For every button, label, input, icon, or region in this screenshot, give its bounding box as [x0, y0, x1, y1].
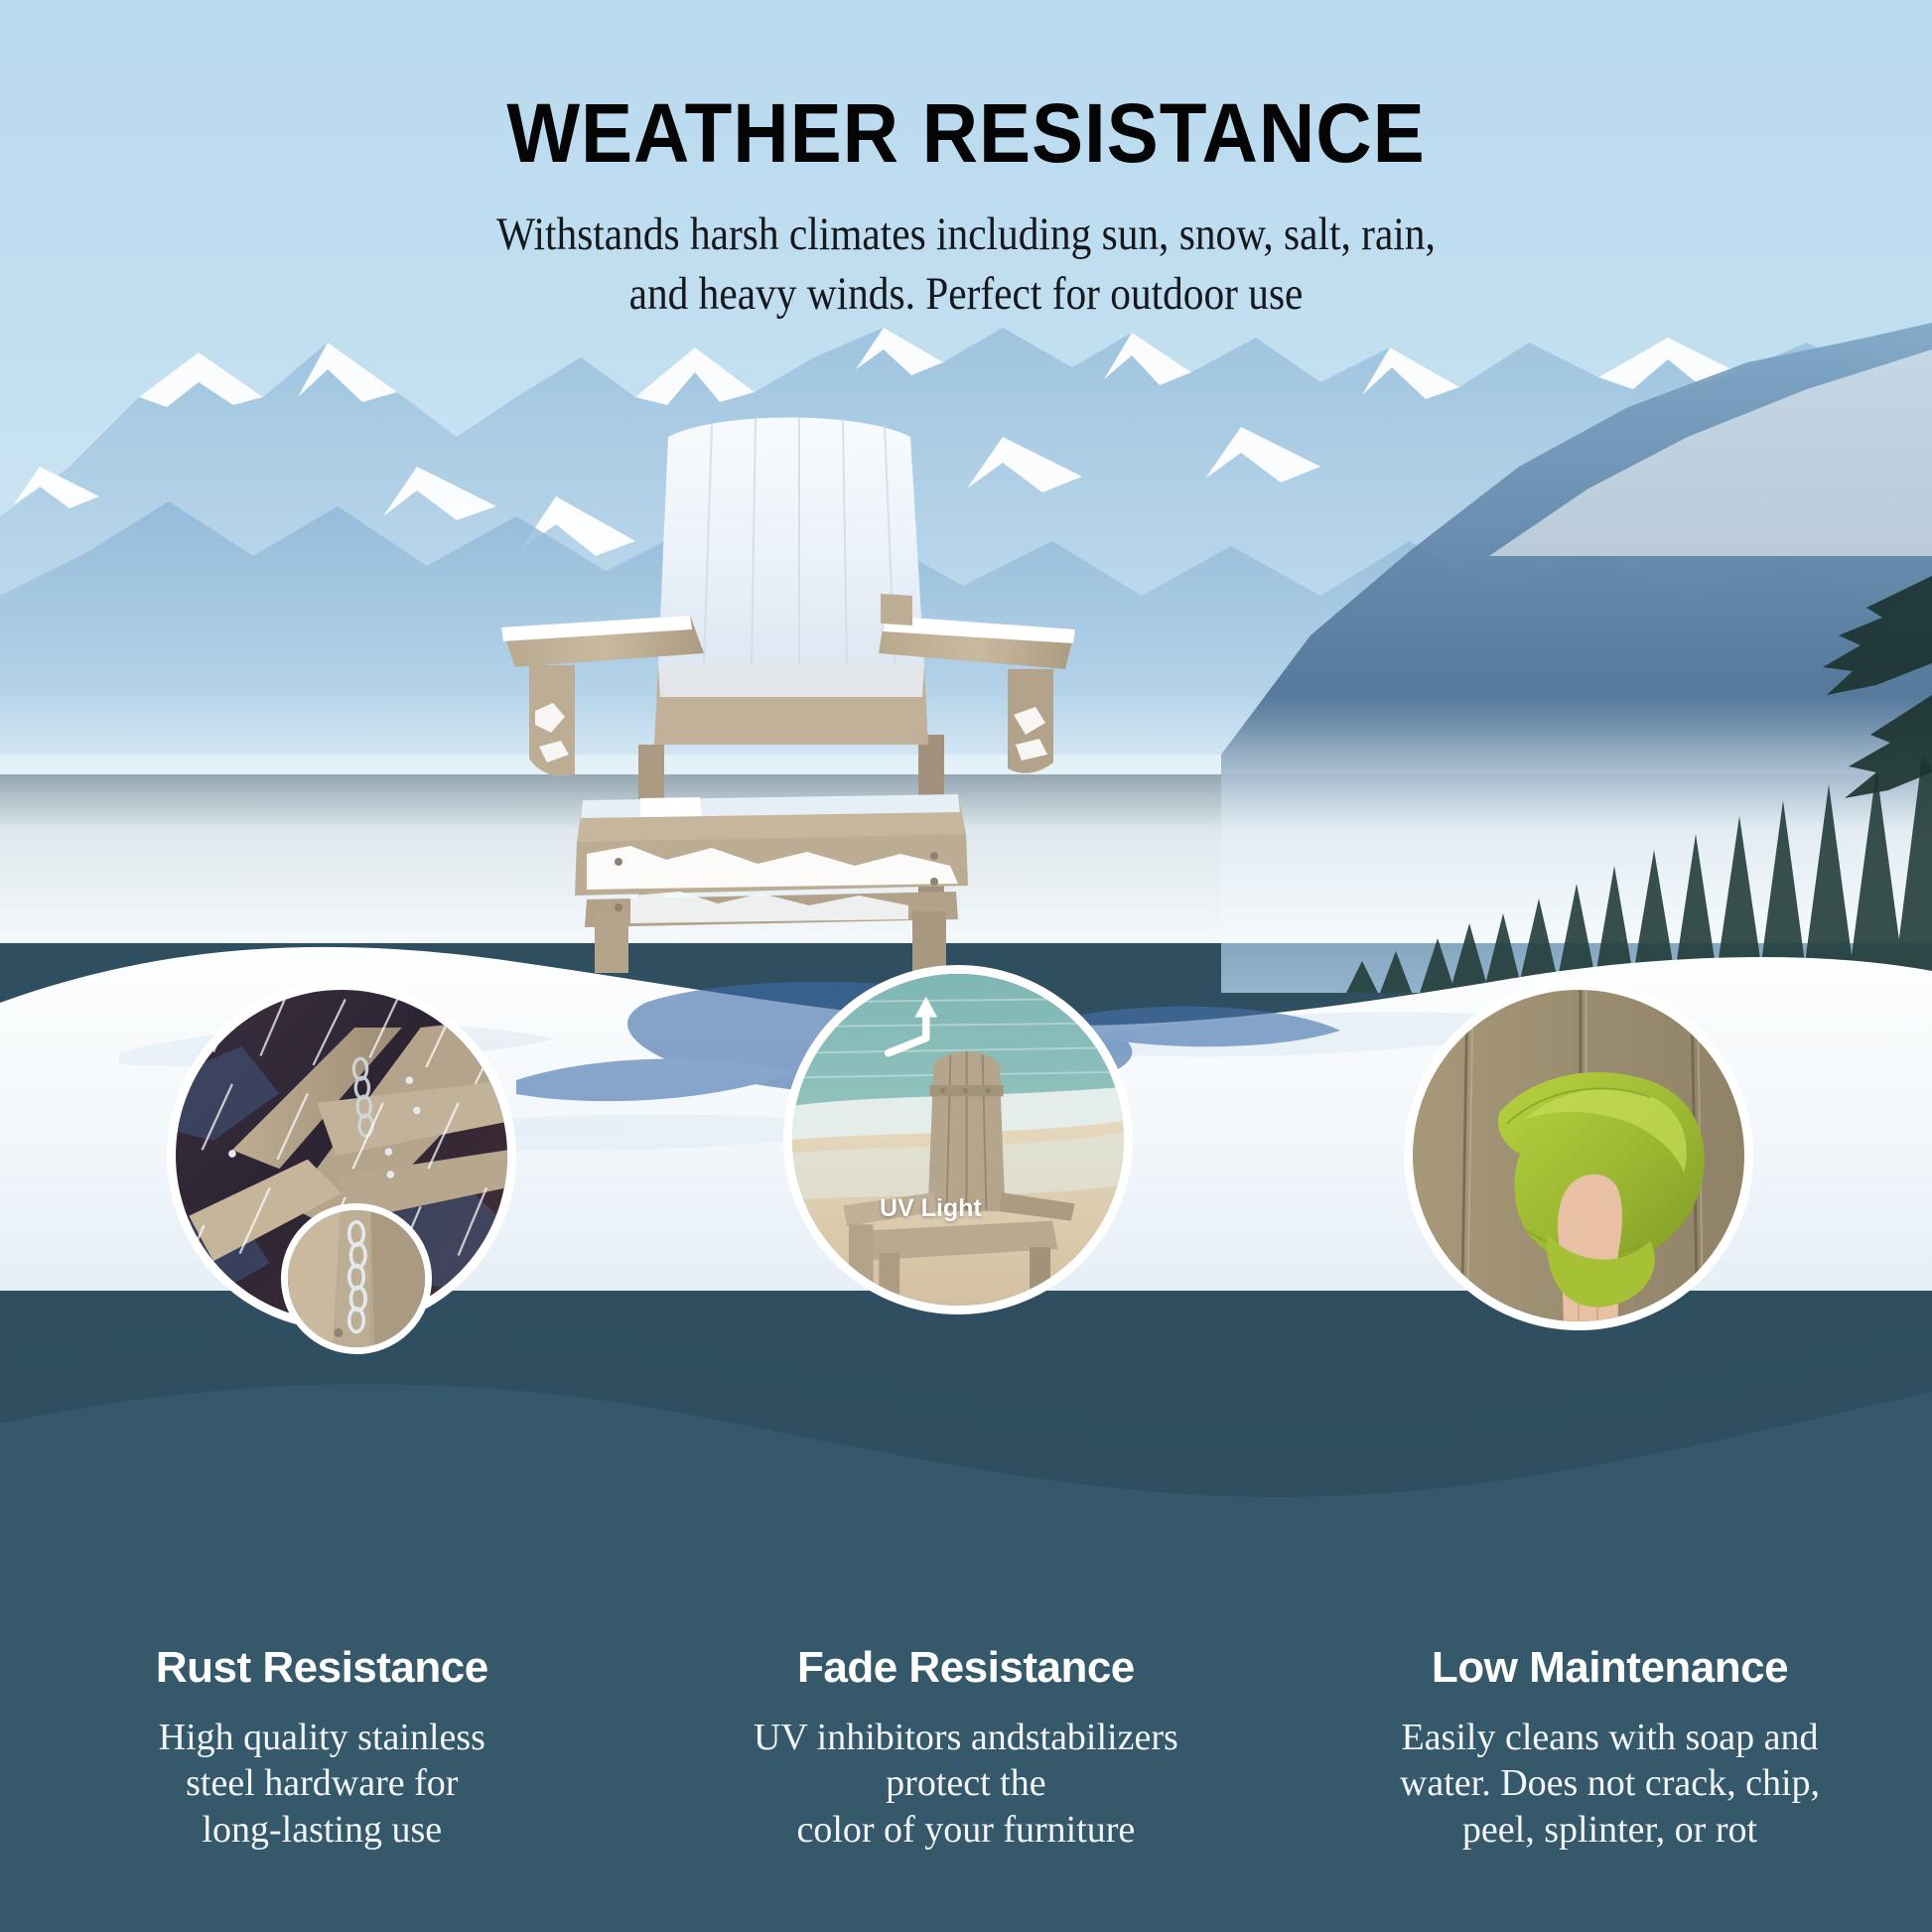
feature-card-low-maintenance: Low Maintenance Easily cleans with soap …: [1288, 1643, 1932, 1853]
weather-resistance-infographic: WEATHER RESISTANCE Withstands harsh clim…: [0, 0, 1932, 1932]
feature-desc-maintenance-line-1: Easily cleans with soap and: [1401, 1717, 1818, 1758]
adirondack-chair-illustration: [491, 417, 1087, 973]
page-title: WEATHER RESISTANCE: [68, 0, 1864, 175]
hero-chair-image: [491, 417, 1087, 973]
chair-front-leg-left: [595, 913, 628, 973]
chair-back-snow-band: [658, 665, 924, 697]
feature-desc-maintenance: Easily cleans with soap and water. Does …: [1315, 1693, 1904, 1853]
feature-desc-rust-line-3: long-lasting use: [202, 1809, 442, 1851]
uv-light-label: UV Light: [880, 1194, 982, 1223]
feature-desc-fade: UV inhibitors andstabilizers protect the…: [672, 1693, 1261, 1853]
chair-seat-snow-bright: [640, 797, 702, 817]
feature-desc-rust-line-1: High quality stainless: [159, 1717, 485, 1758]
feature-title-fade: Fade Resistance: [672, 1643, 1261, 1693]
subtitle-line-1: Withstands harsh climates including sun,…: [496, 208, 1436, 260]
inset-screw: [334, 1328, 343, 1337]
page-subtitle: Withstands harsh climates including sun,…: [116, 175, 1816, 324]
chair-on-beach-illustration: [792, 974, 1124, 1306]
feature-text-row: Rust Resistance High quality stainless s…: [0, 1643, 1932, 1853]
feature-desc-rust-line-2: steel hardware for: [186, 1762, 458, 1804]
chair-front-leg-right: [912, 911, 946, 973]
feature-image-rust-inset: [281, 1203, 432, 1354]
feature-card-fade-resistance: Fade Resistance UV inhibitors andstabili…: [644, 1643, 1289, 1853]
chair-cup-holder: [881, 594, 912, 625]
feature-desc-fade-line-3: color of your furniture: [796, 1809, 1135, 1851]
subtitle-line-2: and heavy winds. Perfect for outdoor use: [629, 268, 1304, 320]
feature-title-rust: Rust Resistance: [28, 1643, 617, 1693]
feature-title-maintenance: Low Maintenance: [1315, 1643, 1904, 1693]
chain-closeup-illustration: [288, 1210, 425, 1347]
feature-card-rust-resistance: Rust Resistance High quality stainless s…: [0, 1643, 644, 1853]
feature-desc-maintenance-line-2: water. Does not crack, chip,: [1400, 1762, 1820, 1804]
feature-image-low-maintenance: [1404, 981, 1753, 1330]
feature-desc-fade-line-2: protect the: [886, 1762, 1045, 1804]
feature-desc-maintenance-line-3: peel, splinter, or rot: [1462, 1809, 1757, 1851]
header-block: WEATHER RESISTANCE Withstands harsh clim…: [0, 0, 1932, 324]
hand-wiping-chair-illustration: [1413, 990, 1744, 1321]
feature-desc-fade-line-1: UV inhibitors andstabilizers: [754, 1717, 1178, 1758]
feature-desc-rust: High quality stainless steel hardware fo…: [28, 1693, 617, 1853]
feature-image-fade-resistance: [783, 965, 1133, 1314]
